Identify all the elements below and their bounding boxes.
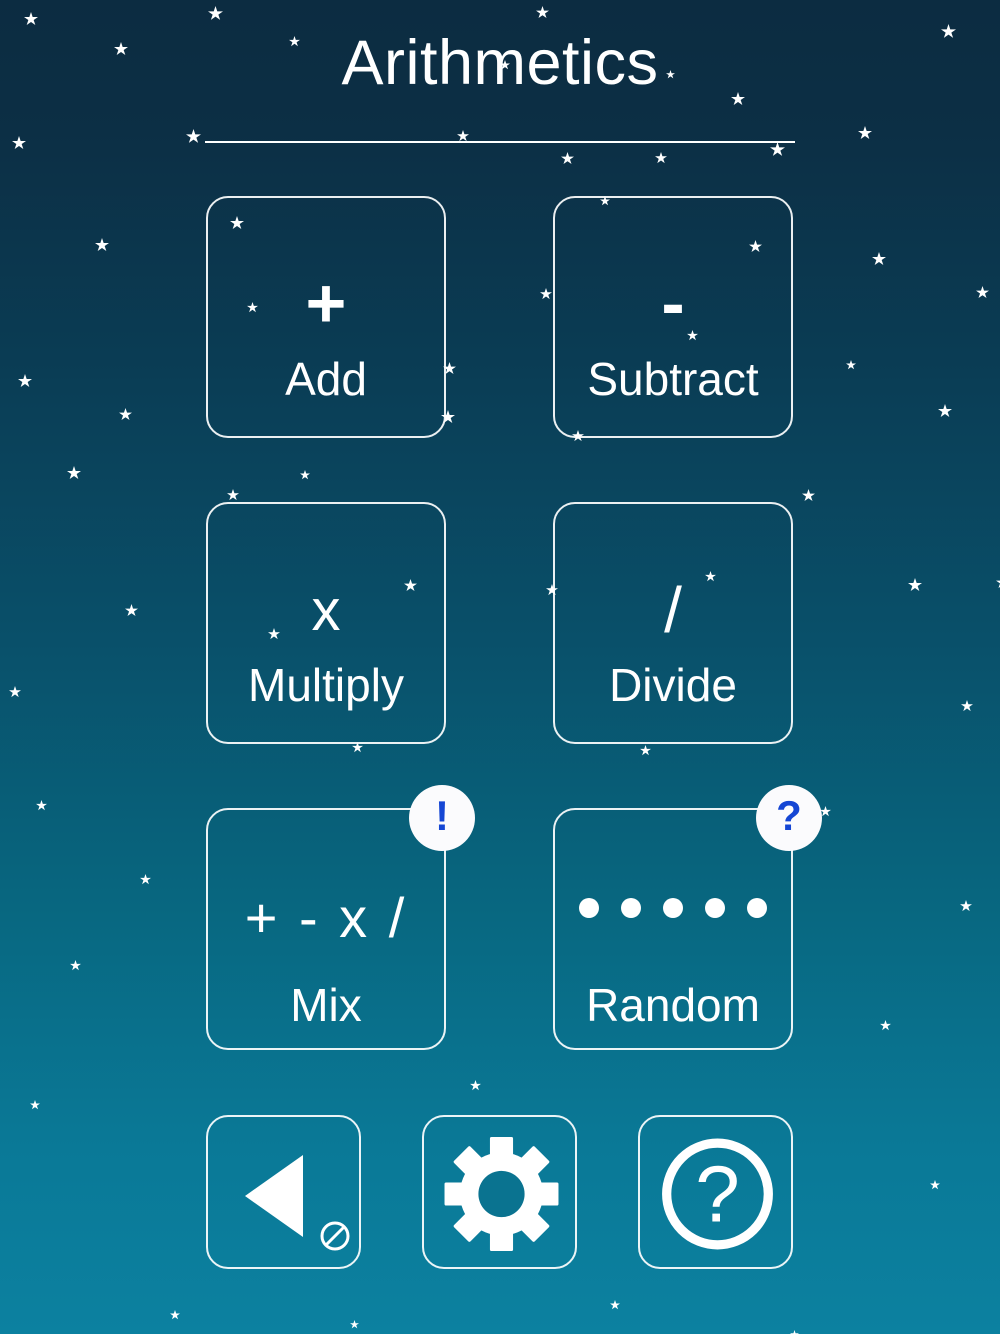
star-icon — [770, 142, 785, 157]
star-icon — [36, 800, 47, 811]
star-icon — [12, 136, 26, 150]
dot — [663, 898, 683, 918]
operation-button-divide[interactable]: / Divide — [553, 502, 793, 744]
operation-button-subtract[interactable]: - Subtract — [553, 196, 793, 438]
page-title: Arithmetics — [0, 32, 1000, 95]
star-icon — [640, 745, 651, 756]
star-icon — [561, 152, 574, 165]
operation-button-multiply[interactable]: x Multiply — [206, 502, 446, 744]
star-icon — [961, 700, 973, 712]
gear-icon — [424, 1117, 579, 1271]
badge-question-glyph: ? — [776, 795, 802, 837]
star-icon — [18, 374, 32, 388]
settings-button[interactable] — [422, 1115, 577, 1269]
dot — [621, 898, 641, 918]
star-icon — [70, 960, 81, 971]
star-icon — [208, 6, 223, 21]
star-icon — [540, 288, 552, 300]
back-button[interactable] — [206, 1115, 361, 1269]
plus-icon: + — [208, 268, 444, 338]
mix-operators-icon: + - x / — [208, 890, 444, 946]
badge-exclamation-mix[interactable]: ! — [409, 785, 475, 851]
help-button[interactable]: ? — [638, 1115, 793, 1269]
star-icon — [67, 466, 81, 480]
star-icon — [802, 489, 815, 502]
badge-question-random[interactable]: ? — [756, 785, 822, 851]
star-icon — [938, 404, 952, 418]
star-icon — [30, 1100, 40, 1110]
star-icon — [24, 12, 38, 26]
random-dots-icon — [555, 898, 791, 918]
operation-label-subtract: Subtract — [555, 356, 791, 402]
divide-icon: / — [555, 578, 791, 642]
badge-exclamation-glyph: ! — [435, 795, 449, 837]
star-icon — [119, 408, 132, 421]
star-icon — [9, 686, 21, 698]
star-icon — [140, 874, 151, 885]
app-screen: Arithmetics + Add - Subtract x Multiply … — [0, 0, 1000, 1334]
star-icon — [930, 1180, 940, 1190]
star-icon — [655, 152, 667, 164]
star-icon — [125, 604, 138, 617]
dot — [747, 898, 767, 918]
operation-label-multiply: Multiply — [208, 662, 444, 708]
star-icon — [846, 360, 856, 370]
star-icon — [610, 1300, 620, 1310]
star-icon — [350, 1320, 359, 1329]
operation-button-random[interactable]: Random — [553, 808, 793, 1050]
star-icon — [996, 576, 1000, 589]
prohibited-icon — [322, 1223, 348, 1249]
star-icon — [95, 238, 109, 252]
star-icon — [976, 286, 989, 299]
star-icon — [960, 900, 972, 912]
back-arrow-icon — [208, 1117, 363, 1271]
question-circle-icon: ? — [640, 1117, 795, 1271]
minus-icon: - — [555, 268, 791, 338]
dot — [705, 898, 725, 918]
star-icon — [858, 126, 872, 140]
operation-label-add: Add — [208, 356, 444, 402]
operation-button-add[interactable]: + Add — [206, 196, 446, 438]
dot — [579, 898, 599, 918]
star-icon — [908, 578, 922, 592]
operation-label-divide: Divide — [555, 662, 791, 708]
star-icon — [186, 129, 201, 144]
star-icon — [170, 1310, 180, 1320]
multiply-icon: x — [208, 582, 444, 640]
star-icon — [790, 1330, 799, 1334]
star-icon — [227, 489, 239, 501]
operation-label-random: Random — [555, 982, 791, 1028]
star-icon — [872, 252, 886, 266]
operation-label-mix: Mix — [208, 982, 444, 1028]
star-icon — [470, 1080, 481, 1091]
star-icon — [300, 470, 310, 480]
star-icon — [536, 6, 549, 19]
star-icon — [880, 1020, 891, 1031]
header-divider — [205, 141, 795, 143]
operation-button-mix[interactable]: + - x / Mix — [206, 808, 446, 1050]
svg-text:?: ? — [695, 1150, 740, 1239]
